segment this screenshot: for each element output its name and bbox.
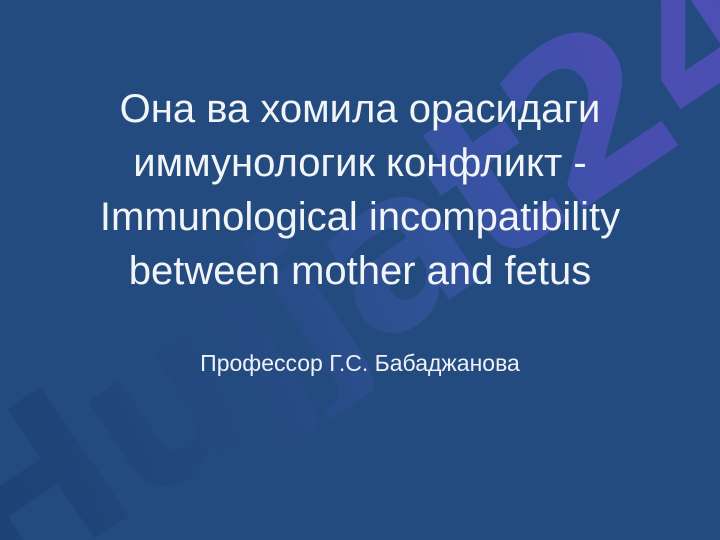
title-line-3: Immunological incompatibility — [40, 190, 680, 244]
slide-content: Она ва хомила орасидаги иммунологик конф… — [0, 0, 720, 540]
title-line-2: иммунологик конфликт - — [40, 136, 680, 190]
title-line-4: between mother and fetus — [40, 244, 680, 298]
slide-subtitle: Профессор Г.С. Бабаджанова — [40, 348, 680, 378]
slide-title: Она ва хомила орасидаги иммунологик конф… — [40, 82, 680, 298]
title-line-1: Она ва хомила орасидаги — [40, 82, 680, 136]
subtitle-author: Профессор Г.С. Бабаджанова — [40, 348, 680, 378]
presentation-slide: Hujjat24 Она ва хомила орасидаги иммунол… — [0, 0, 720, 540]
